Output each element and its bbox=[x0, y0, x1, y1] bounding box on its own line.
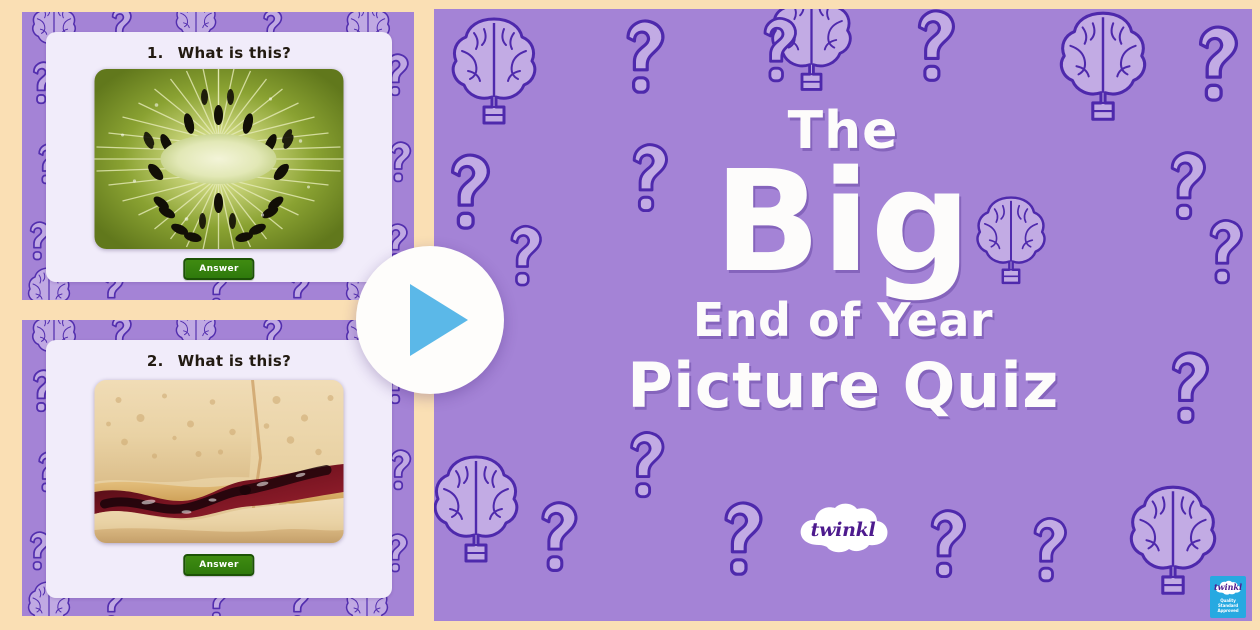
badge-twinkl-wordmark: twinkl bbox=[1210, 582, 1246, 592]
powerpoint-preview-stage: 1.What is this? bbox=[0, 0, 1260, 630]
question-text-2: What is this? bbox=[178, 352, 292, 370]
title-line-end-of-year: End of Year bbox=[434, 297, 1252, 343]
title-line-big: Big bbox=[434, 153, 1252, 293]
kiwi-fruit-image bbox=[95, 69, 344, 249]
title-line-picture-quiz: Picture Quiz bbox=[434, 355, 1252, 417]
badge-caption-line1: Quality Standard bbox=[1218, 598, 1238, 608]
badge-caption-line2: Approved bbox=[1218, 608, 1239, 613]
quality-standard-approved-badge: twinkl Quality Standard Approved bbox=[1210, 576, 1246, 618]
question-number-2: 2. bbox=[147, 352, 164, 370]
twinkl-wordmark: twinkl bbox=[795, 501, 891, 557]
question-text-1: What is this? bbox=[178, 44, 292, 62]
sandwich-image bbox=[95, 380, 344, 543]
answer-button-1[interactable]: Answer bbox=[183, 258, 254, 280]
answer-button-2[interactable]: Answer bbox=[183, 554, 254, 576]
play-triangle-icon bbox=[410, 284, 468, 356]
title-block: The Big End of Year Picture Quiz bbox=[434, 105, 1252, 417]
slide-question-heading-1: 1.What is this? bbox=[46, 44, 392, 62]
twinkl-logo: twinkl bbox=[795, 501, 891, 557]
slide-content-card-2: 2.What is this? bbox=[46, 340, 392, 598]
slide-content-card-1: 1.What is this? bbox=[46, 32, 392, 282]
slide-question-heading-2: 2.What is this? bbox=[46, 352, 392, 370]
title-slide-panel[interactable]: The Big End of Year Picture Quiz twinkl … bbox=[434, 9, 1252, 621]
question-number-1: 1. bbox=[147, 44, 164, 62]
slide-thumbnail-1[interactable]: 1.What is this? bbox=[22, 12, 414, 300]
slide-thumbnail-2[interactable]: 2.What is this? bbox=[22, 320, 414, 616]
badge-caption: Quality Standard Approved bbox=[1210, 598, 1246, 613]
play-button[interactable] bbox=[356, 246, 504, 394]
